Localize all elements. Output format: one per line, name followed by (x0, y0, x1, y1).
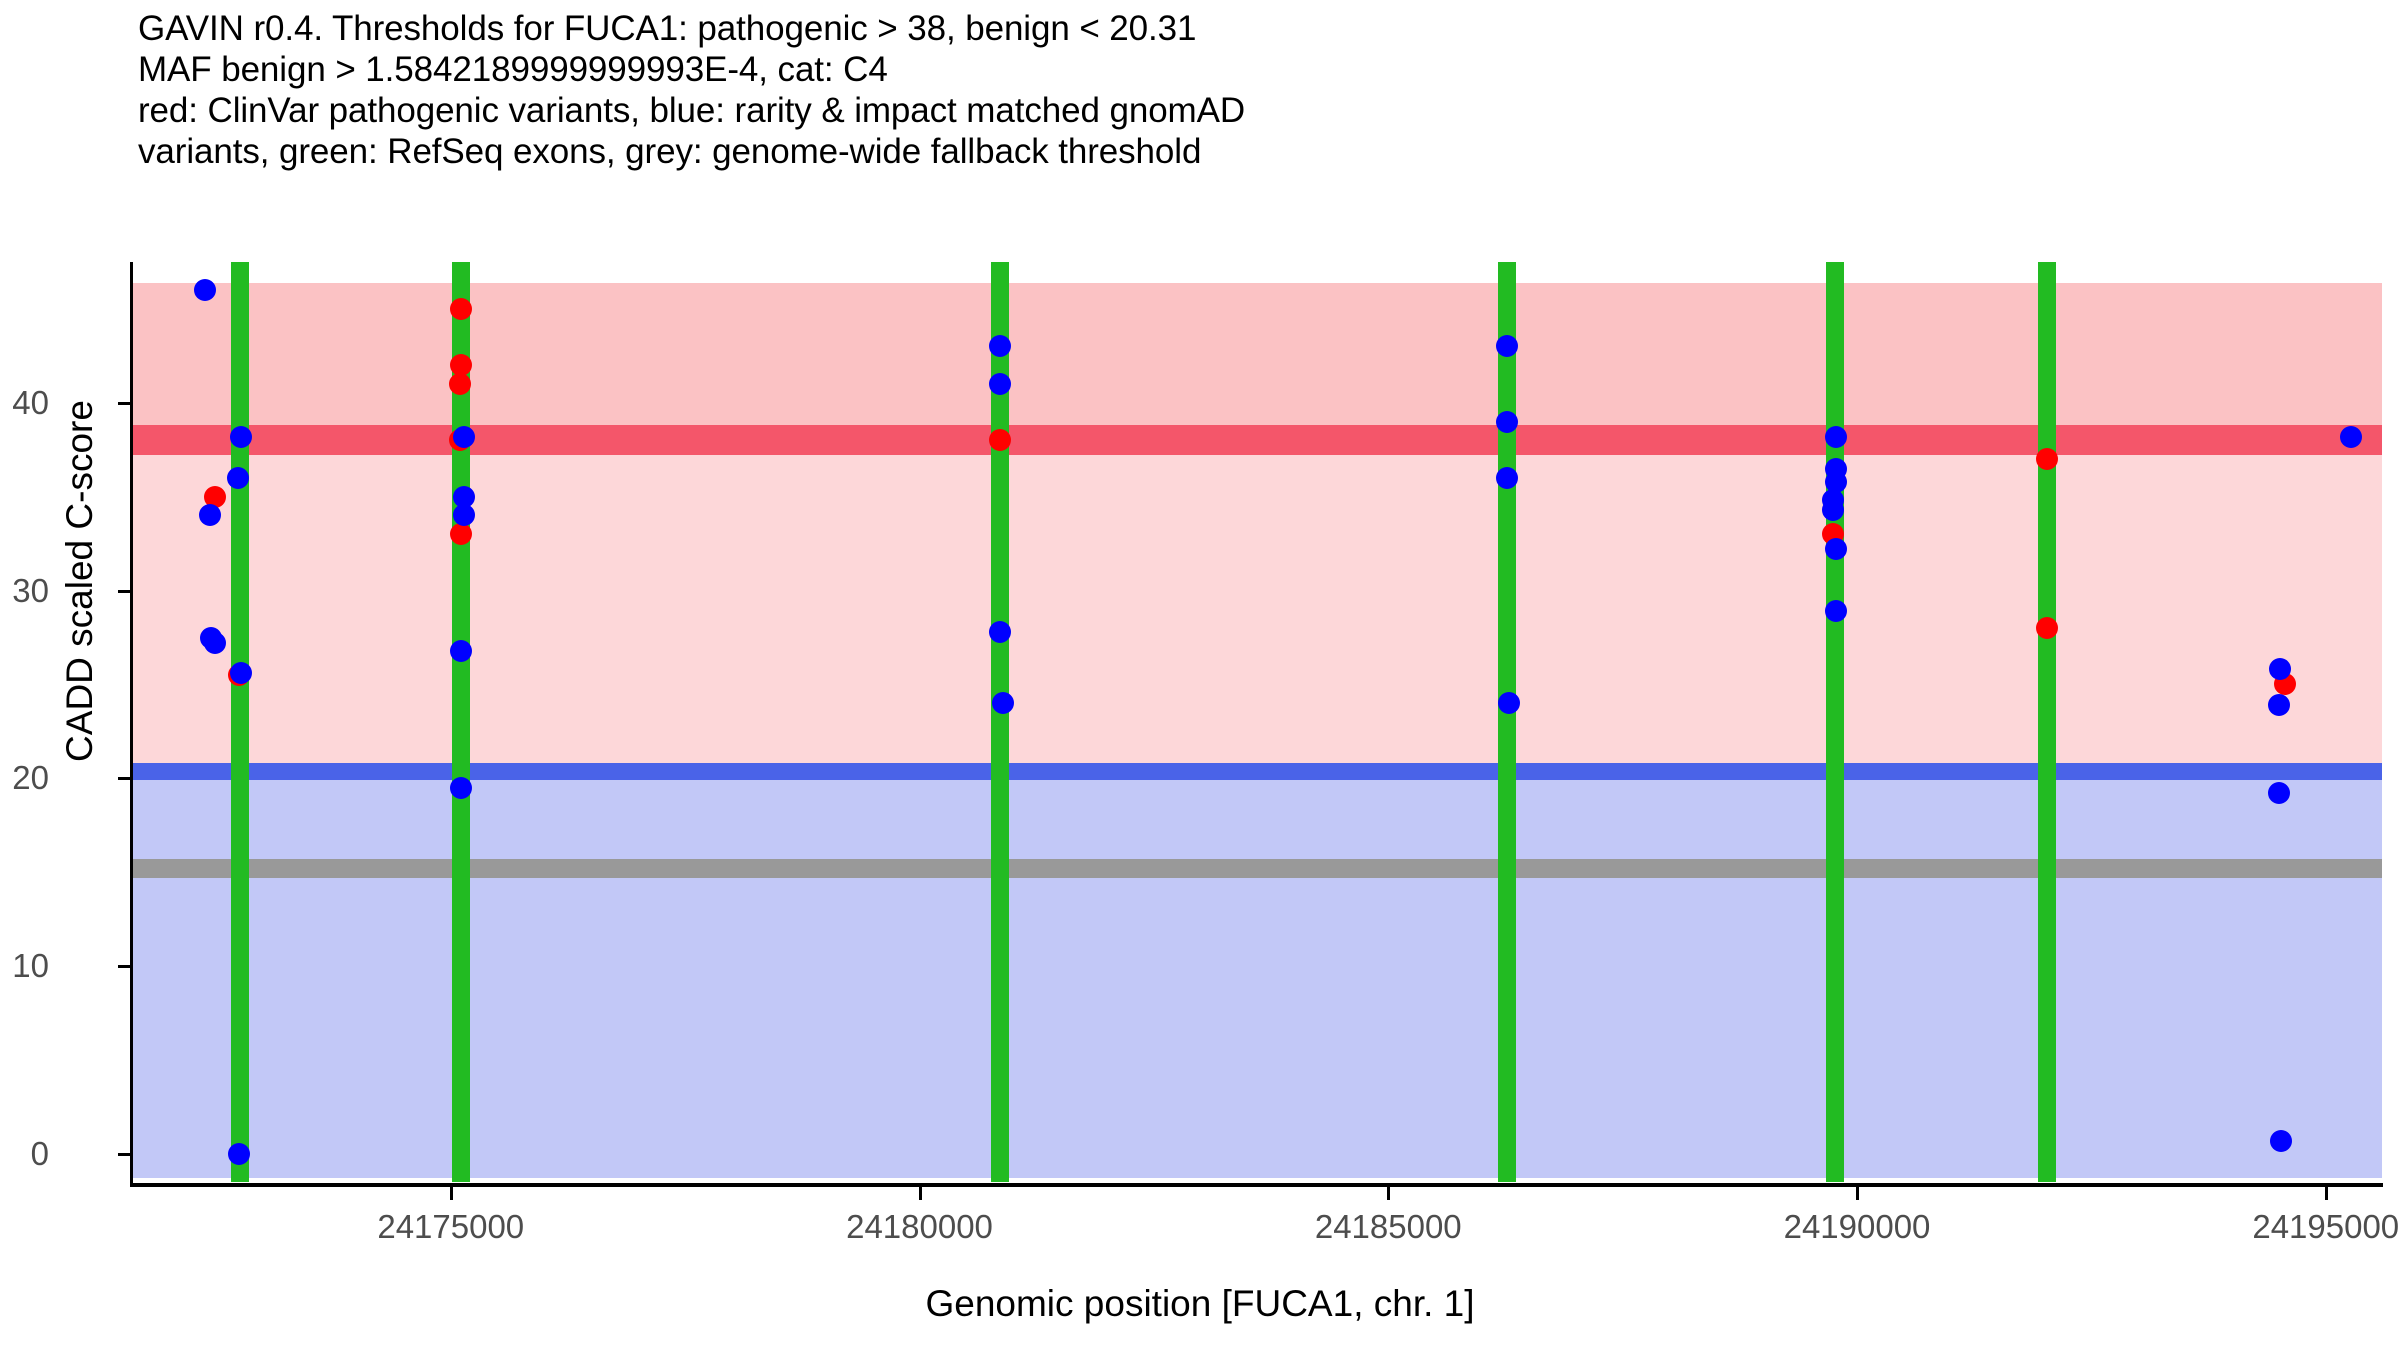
gnomad-point (230, 662, 252, 684)
y-axis-line (130, 262, 133, 1184)
y-tick-mark (118, 965, 130, 968)
x-tick-label: 24190000 (1784, 1208, 1931, 1246)
x-tick-mark (450, 1187, 453, 1200)
x-tick-label: 24185000 (1315, 1208, 1462, 1246)
y-tick-label: 20 (12, 759, 49, 797)
y-axis-title: CADD scaled C-score (59, 131, 101, 1031)
exon-line-6 (2038, 262, 2056, 1182)
x-tick-mark (919, 1187, 922, 1200)
exon-line-4 (1498, 262, 1516, 1182)
x-axis-line (130, 1183, 2383, 1187)
chart-caption: GAVIN r0.4. Thresholds for FUCA1: pathog… (138, 8, 2338, 172)
y-tick-mark (118, 590, 130, 593)
x-tick-label: 24175000 (377, 1208, 524, 1246)
x-tick-label: 24180000 (846, 1208, 993, 1246)
x-tick-label: 24195000 (2252, 1208, 2399, 1246)
exon-line-3 (991, 262, 1009, 1182)
caption-line-3: red: ClinVar pathogenic variants, blue: … (138, 90, 2338, 131)
gnomad-point (1825, 600, 1847, 622)
x-tick-mark (1856, 1187, 1859, 1200)
exon-line-5 (1826, 262, 1844, 1182)
y-tick-label: 0 (31, 1135, 49, 1173)
pathogenic-point (449, 373, 471, 395)
y-tick-label: 30 (12, 572, 49, 610)
y-tick-mark (118, 1153, 130, 1156)
gnomad-point (992, 692, 1014, 714)
caption-line-2: MAF benign > 1.5842189999999993E-4, cat:… (138, 49, 2338, 90)
gnomad-point (2340, 426, 2362, 448)
gnomad-point (1822, 499, 1844, 521)
gnomad-point (227, 467, 249, 489)
gnomad-point (1496, 411, 1518, 433)
y-tick-mark (118, 777, 130, 780)
gnomad-point (228, 1143, 250, 1165)
gnomad-point (453, 426, 475, 448)
gnomad-point (1825, 426, 1847, 448)
y-tick-mark (118, 402, 130, 405)
scatter-plot-panel (132, 262, 2382, 1182)
x-tick-mark (1387, 1187, 1390, 1200)
caption-line-1: GAVIN r0.4. Thresholds for FUCA1: pathog… (138, 8, 2338, 49)
gnomad-point (230, 426, 252, 448)
gnomad-point (989, 621, 1011, 643)
x-tick-mark (2325, 1187, 2328, 1200)
y-tick-label: 40 (12, 384, 49, 422)
gnomad-point (2268, 694, 2290, 716)
caption-line-4: variants, green: RefSeq exons, grey: gen… (138, 131, 2338, 172)
y-tick-label: 10 (12, 947, 49, 985)
gnomad-point (450, 640, 472, 662)
exon-line-2 (452, 262, 470, 1182)
x-axis-title: Genomic position [FUCA1, chr. 1] (0, 1283, 2400, 1325)
gnomad-point (2270, 1130, 2292, 1152)
gnomad-point (989, 373, 1011, 395)
gnomad-point (450, 777, 472, 799)
exon-line-1 (231, 262, 249, 1182)
pathogenic-point (450, 298, 472, 320)
